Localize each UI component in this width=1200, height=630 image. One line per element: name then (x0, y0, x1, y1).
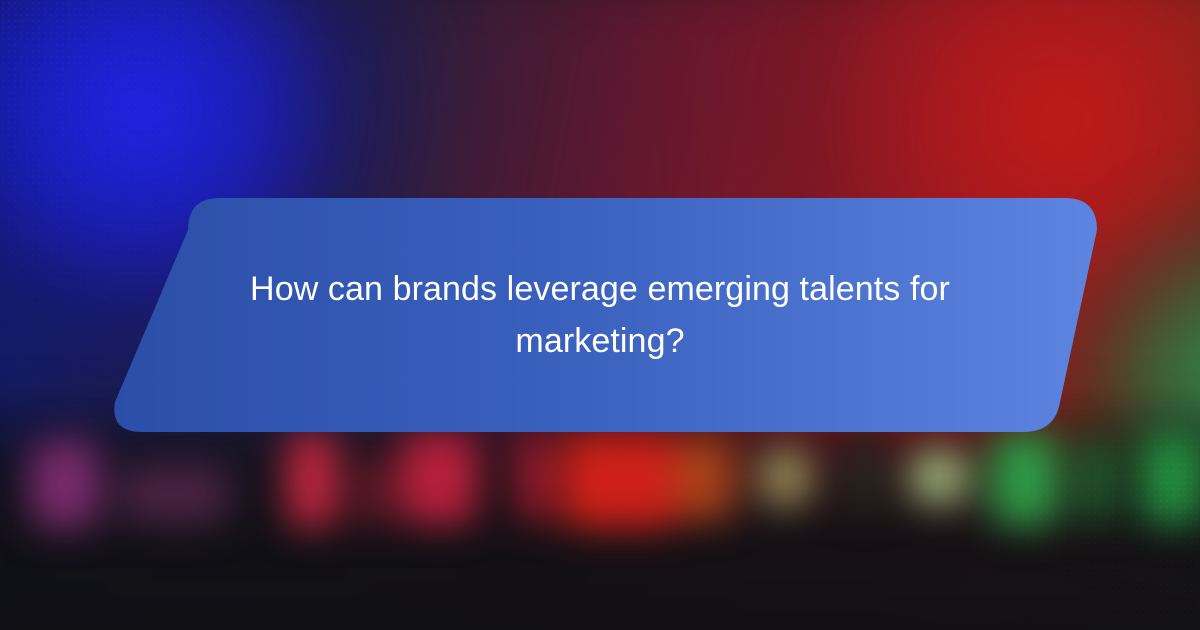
og-card-canvas: How can brands leverage emerging talents… (0, 0, 1200, 630)
card-text-area: How can brands leverage emerging talents… (200, 196, 1000, 434)
question-text: How can brands leverage emerging talents… (200, 263, 1000, 367)
question-card: How can brands leverage emerging talents… (0, 0, 1200, 630)
